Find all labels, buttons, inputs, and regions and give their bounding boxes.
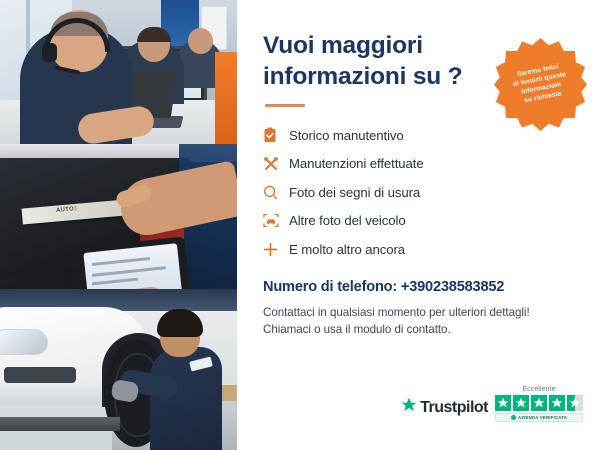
phone-line: Numero di telefono: +390238583852 (263, 279, 576, 295)
star-half (567, 395, 583, 411)
check-dot-icon (511, 415, 516, 420)
star-filled (531, 395, 547, 411)
feature-label: Manutenzioni effettuate (289, 156, 424, 171)
photo-mechanic-checking-wheel-on-lift (0, 289, 237, 450)
contact-line2: Chiamaci o usa il modulo di contatto. (263, 323, 451, 336)
page-title-line1: Vuoi maggiori (263, 32, 423, 59)
star-filled (513, 395, 529, 411)
star-rating (495, 395, 583, 411)
trustpilot-wordmark: Trustpilot (420, 399, 488, 417)
contact-instructions: Contattaci in qualsiasi momento per ulte… (263, 304, 576, 339)
list-item: Foto dei segni di usura (263, 178, 576, 207)
rating-word: Eccellente (522, 386, 555, 393)
feature-list: Storico manutentivo Manutenzioni effettu… (263, 121, 576, 264)
page-title: Vuoi maggiori informazioni su ? (263, 30, 475, 92)
list-item: Altre foto del veicolo (263, 207, 576, 236)
trustpilot-score-block: Eccellente AZIENDA VERIFICATA (495, 386, 583, 422)
crossed-tools-icon (263, 156, 289, 172)
star-filled (549, 395, 565, 411)
feature-label: Storico manutentivo (289, 128, 404, 143)
feature-label: Altre foto del veicolo (289, 213, 406, 228)
feature-label: E molto altro ancora (289, 242, 405, 257)
trustpilot-star-icon (401, 397, 417, 418)
phone-number[interactable]: +390238583852 (401, 279, 504, 295)
phone-label: Numero di telefono: (263, 279, 397, 295)
list-item: E molto altro ancora (263, 235, 576, 264)
star-filled (495, 395, 511, 411)
verified-label: AZIENDA VERIFICATA (518, 415, 567, 420)
photo-vehicle-inspection-with-tablet: AUTO1 (0, 144, 237, 289)
clipboard-check-icon (263, 127, 289, 143)
page-title-line2: informazioni su ? (263, 63, 462, 90)
magnifier-icon (263, 185, 289, 200)
promo-banner: AUTO1 Vuoi maggiori (0, 0, 600, 450)
verified-business-badge: AZIENDA VERIFICATA (495, 413, 583, 422)
title-underline-rule (265, 104, 305, 107)
car-focus-frame-icon (263, 213, 289, 228)
plus-icon (263, 242, 289, 257)
list-item: Manutenzioni effettuate (263, 150, 576, 179)
content-panel: Vuoi maggiori informazioni su ? Storico … (237, 0, 600, 450)
trustpilot-rating[interactable]: Trustpilot Eccellente AZIENDA VERIFICATA (401, 386, 583, 422)
photo-call-center-agent-with-headset (0, 0, 237, 144)
trustpilot-logo: Trustpilot (401, 397, 488, 422)
photo-column: AUTO1 (0, 0, 237, 450)
contact-line1: Contattaci in qualsiasi momento per ulte… (263, 306, 530, 319)
feature-label: Foto dei segni di usura (289, 185, 420, 200)
request-info-badge: Saremo felici di fornirti queste informa… (492, 36, 589, 133)
